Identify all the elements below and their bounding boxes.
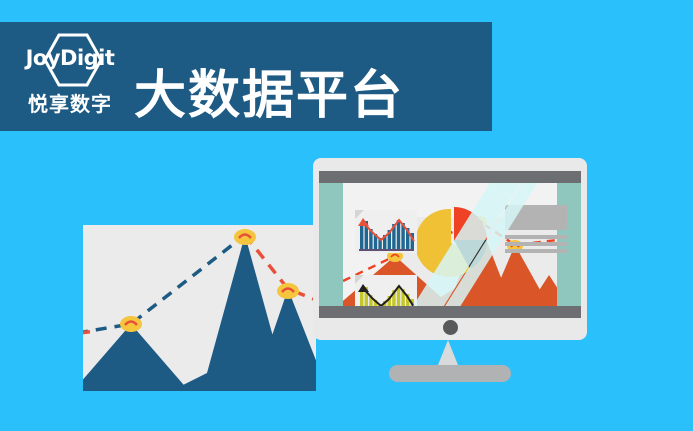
trend-line-dashed-blue — [83, 235, 245, 333]
data-marker — [277, 283, 299, 299]
logo-wordmark: JoyDigit — [14, 46, 126, 70]
data-marker — [234, 229, 256, 245]
logo-subtitle: 悦享数字 — [14, 88, 126, 117]
monitor-stand-base — [389, 365, 511, 382]
page-title: 大数据平台 — [134, 70, 404, 122]
mountain-shape-1 — [83, 324, 189, 391]
trend-line-dashed-red-left — [83, 331, 97, 333]
brand-logo: JoyDigit 悦享数字 — [14, 30, 126, 124]
mini-chart-card-blue[interactable] — [355, 210, 417, 253]
poster-canvas: JoyDigit 悦享数字 大数据平台 — [0, 0, 693, 431]
data-marker — [120, 316, 142, 332]
doc-line — [505, 235, 567, 239]
page-fold-corner-icon — [355, 275, 364, 284]
desktop-monitor — [313, 158, 587, 340]
monitor-power-indicator — [443, 320, 458, 335]
monitor-screen — [319, 183, 581, 306]
mini-chart-card-olive[interactable] — [355, 275, 417, 306]
monitor-bottom-bezel — [319, 306, 581, 318]
page-fold-corner-icon — [355, 210, 364, 219]
doc-line — [505, 249, 567, 253]
blue-bar-chart-svg — [355, 210, 417, 253]
header-banner: JoyDigit 悦享数字 大数据平台 — [0, 22, 492, 131]
left-mountain-chart-panel — [83, 225, 316, 391]
olive-bar-chart-svg — [355, 275, 417, 306]
monitor-top-bezel — [319, 171, 581, 183]
left-mountain-chart-svg — [83, 225, 316, 391]
doc-line — [505, 242, 567, 246]
